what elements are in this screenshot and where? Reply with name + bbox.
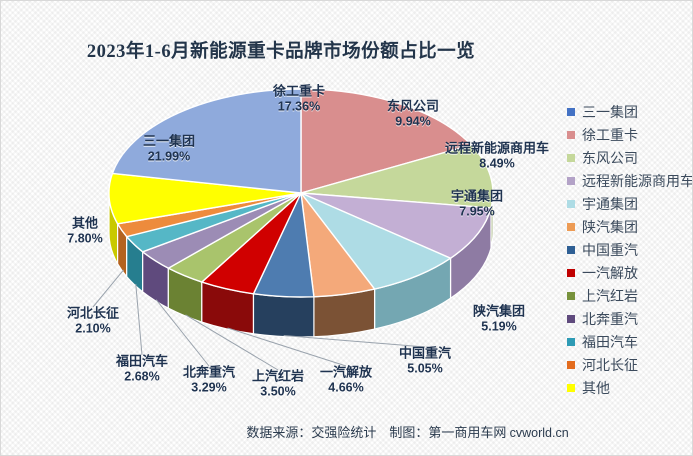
legend-swatch-icon (567, 223, 575, 231)
legend-swatch-icon (567, 108, 575, 116)
legend-item[interactable]: 一汽解放 (561, 261, 693, 284)
legend-swatch-icon (567, 338, 575, 346)
legend-item[interactable]: 其他 (561, 376, 693, 399)
pie-slice-name: 上汽红岩 (252, 370, 304, 385)
legend-item-label: 河北长征 (582, 355, 638, 375)
legend-item[interactable]: 陕汽集团 (561, 215, 693, 238)
pie-slice-label: 福田汽车2.68% (116, 355, 168, 384)
legend-item-label: 北奔重汽 (582, 309, 638, 329)
legend-swatch-icon (567, 384, 575, 392)
pie-slice-label: 三一集团21.99% (143, 135, 195, 164)
legend-swatch-icon (567, 361, 575, 369)
legend-item[interactable]: 宇通集团 (561, 192, 693, 215)
pie-slice-value: 17.36% (273, 99, 325, 113)
legend-swatch-icon (567, 246, 575, 254)
legend-swatch-icon (567, 131, 575, 139)
legend-item-label: 远程新能源商用车 (582, 171, 693, 191)
pie-slice-label: 上汽红岩3.50% (252, 370, 304, 399)
legend-item[interactable]: 中国重汽 (561, 238, 693, 261)
legend-swatch-icon (567, 315, 575, 323)
leader-line (136, 284, 142, 355)
pie-slice-value: 21.99% (143, 149, 195, 163)
pie-slice-label: 陕汽集团5.19% (473, 305, 525, 334)
chart-legend: 三一集团徐工重卡东风公司远程新能源商用车宇通集团陕汽集团中国重汽一汽解放上汽红岩… (561, 100, 693, 399)
pie-slice-name: 河北长征 (67, 307, 119, 322)
pie-slice-name: 一汽解放 (320, 366, 372, 381)
pie-slice-label: 北奔重汽3.29% (183, 366, 235, 395)
pie-slice-value: 5.05% (399, 361, 451, 375)
pie-slice-value: 7.80% (67, 231, 102, 245)
pie-slice-value: 2.68% (116, 369, 168, 383)
pie-slice-value: 2.10% (67, 321, 119, 335)
pie-slice-name: 福田汽车 (116, 355, 168, 370)
legend-item-label: 徐工重卡 (582, 125, 638, 145)
footer-site: cvworld.cn (510, 426, 569, 440)
pie-slice-label: 河北长征2.10% (67, 307, 119, 336)
pie-slice-value: 5.19% (473, 319, 525, 333)
pie-slice-name: 徐工重卡 (273, 85, 325, 100)
legend-item[interactable]: 徐工重卡 (561, 123, 693, 146)
legend-item-label: 福田汽车 (582, 332, 638, 352)
legend-item-label: 陕汽集团 (582, 217, 638, 237)
legend-item[interactable]: 上汽红岩 (561, 284, 693, 307)
pie-slice-name: 远程新能源商用车 (445, 142, 549, 157)
leader-line (93, 270, 124, 307)
pie-slice-name: 陕汽集团 (473, 305, 525, 320)
legend-swatch-icon (567, 292, 575, 300)
legend-item[interactable]: 远程新能源商用车 (561, 169, 693, 192)
legend-item-label: 其他 (582, 378, 610, 398)
pie-slice-label: 宇通集团7.95% (451, 190, 503, 219)
pie-slice-label: 一汽解放4.66% (320, 366, 372, 395)
legend-item[interactable]: 河北长征 (561, 353, 693, 376)
pie-slice-name: 北奔重汽 (183, 366, 235, 381)
pie-slice-value: 9.94% (387, 114, 439, 128)
pie-slice-value: 4.66% (320, 380, 372, 394)
legend-item-label: 三一集团 (582, 102, 638, 122)
pie-slice-value: 3.50% (252, 384, 304, 398)
pie-slice-name: 其他 (67, 217, 102, 232)
pie-slice-label: 徐工重卡17.36% (273, 85, 325, 114)
legend-item[interactable]: 北奔重汽 (561, 307, 693, 330)
pie-slice-name: 东风公司 (387, 100, 439, 115)
legend-item-label: 东风公司 (582, 148, 638, 168)
legend-item[interactable]: 福田汽车 (561, 330, 693, 353)
legend-swatch-icon (567, 200, 575, 208)
pie-slice-label: 中国重汽5.05% (399, 347, 451, 376)
legend-item-label: 上汽红岩 (582, 286, 638, 306)
footer-source: 数据来源：交强险统计 制图：第一商用车网 (246, 425, 509, 440)
pie-slice-value: 8.49% (445, 156, 549, 170)
pie-slice-name: 中国重汽 (399, 347, 451, 362)
pie-slice-name: 三一集团 (143, 135, 195, 150)
pie-slice-value: 3.29% (183, 380, 235, 394)
legend-item[interactable]: 三一集团 (561, 100, 693, 123)
legend-swatch-icon (567, 269, 575, 277)
pie-slice-name: 宇通集团 (451, 190, 503, 205)
pie-chart: 三一集团21.99%徐工重卡17.36%东风公司9.94%远程新能源商用车8.4… (1, 1, 561, 421)
chart-page: 2023年1-6月新能源重卡品牌市场份额占比一览 三一集团21.99%徐工重卡1… (0, 0, 693, 456)
legend-item[interactable]: 东风公司 (561, 146, 693, 169)
legend-item-label: 宇通集团 (582, 194, 638, 214)
legend-swatch-icon (567, 177, 575, 185)
pie-slice-label: 其他7.80% (67, 217, 102, 246)
pie-slice-side (253, 294, 313, 337)
legend-item-label: 一汽解放 (582, 263, 638, 283)
chart-footer: 数据来源：交强险统计 制图：第一商用车网 cvworld.cn (1, 422, 693, 441)
pie-slice-value: 7.95% (451, 204, 503, 218)
legend-swatch-icon (567, 154, 575, 162)
pie-slice-label: 远程新能源商用车8.49% (445, 142, 549, 171)
legend-item-label: 中国重汽 (582, 240, 638, 260)
pie-slice-label: 东风公司9.94% (387, 100, 439, 129)
